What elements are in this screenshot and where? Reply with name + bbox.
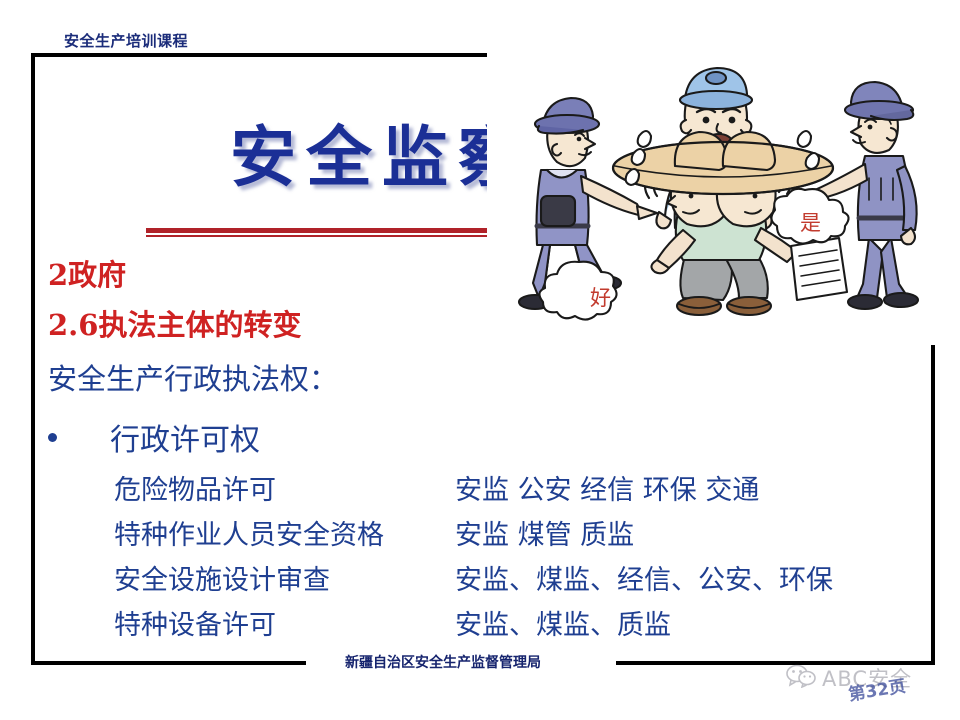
table-row: 安全设施设计审查 安监、煤监、经信、公安、环保 [114,558,833,603]
permit-authority-table: 危险物品许可 安监 公安 经信 环保 交通 特种作业人员安全资格 安监 煤管 质… [114,468,833,648]
table-row: 特种设备许可 安监、煤监、质监 [114,603,833,648]
body-heading: 安全生产行政执法权： [48,356,338,398]
permit-item-name: 特种作业人员安全资格 [114,513,455,552]
table-row: 危险物品许可 安监 公安 经信 环保 交通 [114,468,833,513]
frame-border-top [31,53,501,57]
course-header-label: 安全生产培训课程 [64,30,188,51]
slide-canvas: 安全生产培训课程 安全监察 2政府 2.6执法主体的转变 安全生产行政执法权： … [0,0,960,720]
permit-item-name: 特种设备许可 [114,603,455,642]
table-row: 特种作业人员安全资格 安监 煤管 质监 [114,513,833,558]
bullet-row: 行政许可权 [48,415,260,459]
permit-agency-list: 安监、煤监、经信、公安、环保 [455,558,833,597]
frame-border-left [31,53,35,665]
wechat-icon [786,664,816,692]
permit-item-name: 安全设施设计审查 [114,558,455,597]
speech-bubble-right-text: 是 [800,211,821,235]
permit-agency-list: 安监 公安 经信 环保 交通 [455,468,759,507]
permit-agency-list: 安监 煤管 质监 [455,513,634,552]
speech-bubble-left-text: 好 [590,286,611,310]
footer-organization-label: 新疆自治区安全生产监督管理局 [345,652,541,672]
bullet-dot-icon [48,433,57,442]
subsection-heading: 2.6执法主体的转变 [48,302,301,344]
permit-agency-list: 安监、煤监、质监 [455,603,671,642]
frame-border-right [931,345,935,665]
cartoon-illustration: 好 是 [487,40,957,340]
section-number-heading: 2政府 [48,252,126,294]
bullet-label: 行政许可权 [110,415,260,459]
frame-border-bottom-left [31,661,306,665]
permit-item-name: 危险物品许可 [114,468,455,507]
